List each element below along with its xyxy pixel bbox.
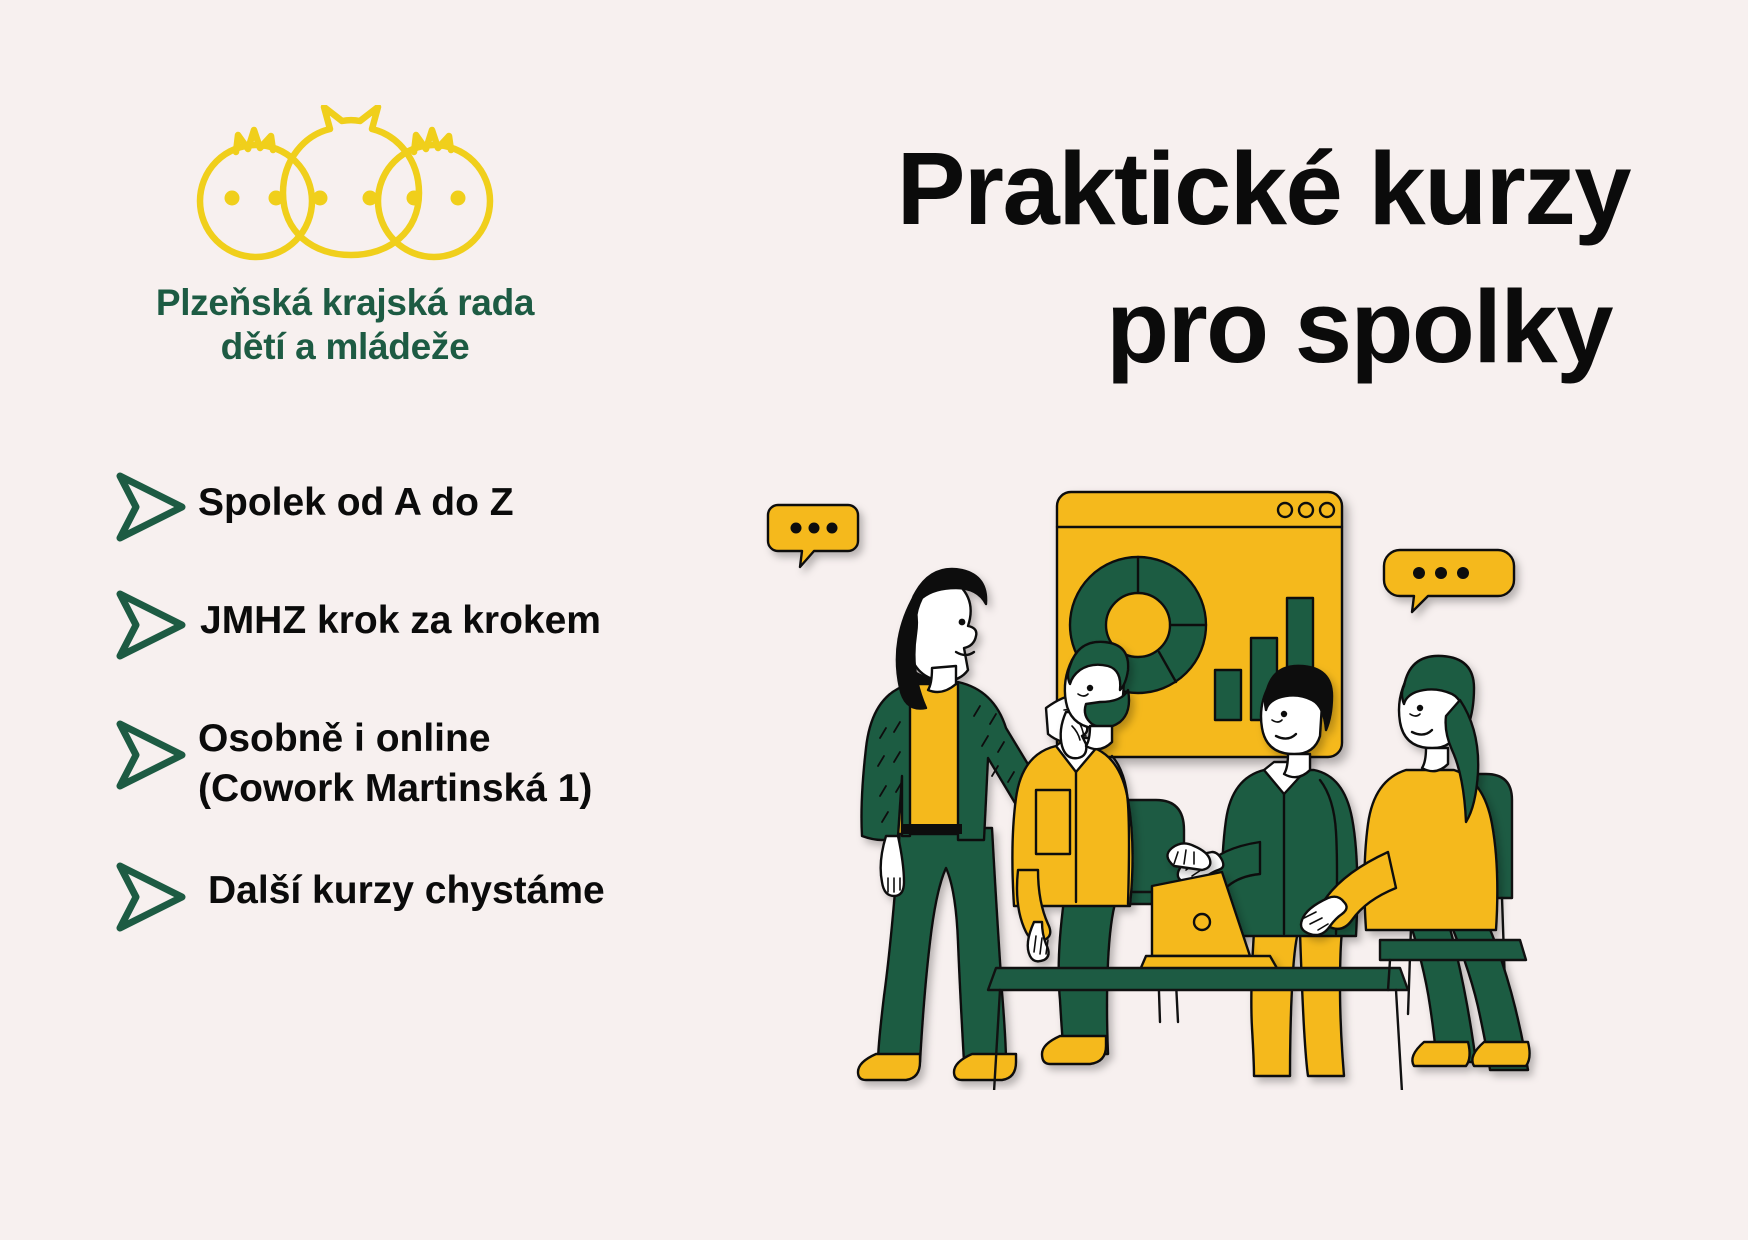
list-item-label: Další kurzy chystáme — [198, 856, 605, 916]
poster-canvas: Plzeňská krajská rada dětí a mládeže Pra… — [0, 0, 1748, 1240]
title-line-1: Praktické kurzy — [700, 120, 1630, 258]
title-line-2: pro spolky — [700, 258, 1630, 396]
list-item-label: Osobně i online (Cowork Martinská 1) — [198, 704, 592, 814]
arrow-right-outline-icon — [112, 860, 190, 934]
page-title: Praktické kurzy pro spolky — [700, 120, 1630, 396]
meeting-presentation-illustration — [760, 470, 1560, 1090]
speech-bubble-left — [768, 505, 858, 567]
arrow-right-outline-icon — [112, 588, 190, 662]
logo-wordmark: Plzeňská krajská rada dětí a mládeže — [110, 281, 580, 368]
organization-logo: Plzeňská krajská rada dětí a mládeže — [110, 105, 580, 368]
logo-line-1: Plzeňská krajská rada — [110, 281, 580, 325]
list-item: Osobně i online (Cowork Martinská 1) — [112, 704, 812, 814]
list-item: Další kurzy chystáme — [112, 856, 812, 934]
list-item-label: Spolek od A do Z — [198, 468, 514, 528]
arrow-right-outline-icon — [112, 718, 190, 792]
list-item: Spolek od A do Z — [112, 468, 812, 544]
speech-bubble-right — [1384, 550, 1514, 612]
three-chicks-logo-icon — [180, 105, 510, 275]
seated-person-yellow-jacket — [1012, 642, 1132, 1064]
feature-list: Spolek od A do Z JMHZ krok za krokem Oso… — [112, 468, 812, 934]
arrow-right-outline-icon — [112, 470, 190, 544]
list-item: JMHZ krok za krokem — [112, 586, 812, 662]
logo-line-2: dětí a mládeže — [110, 325, 580, 369]
list-item-label: JMHZ krok za krokem — [198, 586, 601, 646]
